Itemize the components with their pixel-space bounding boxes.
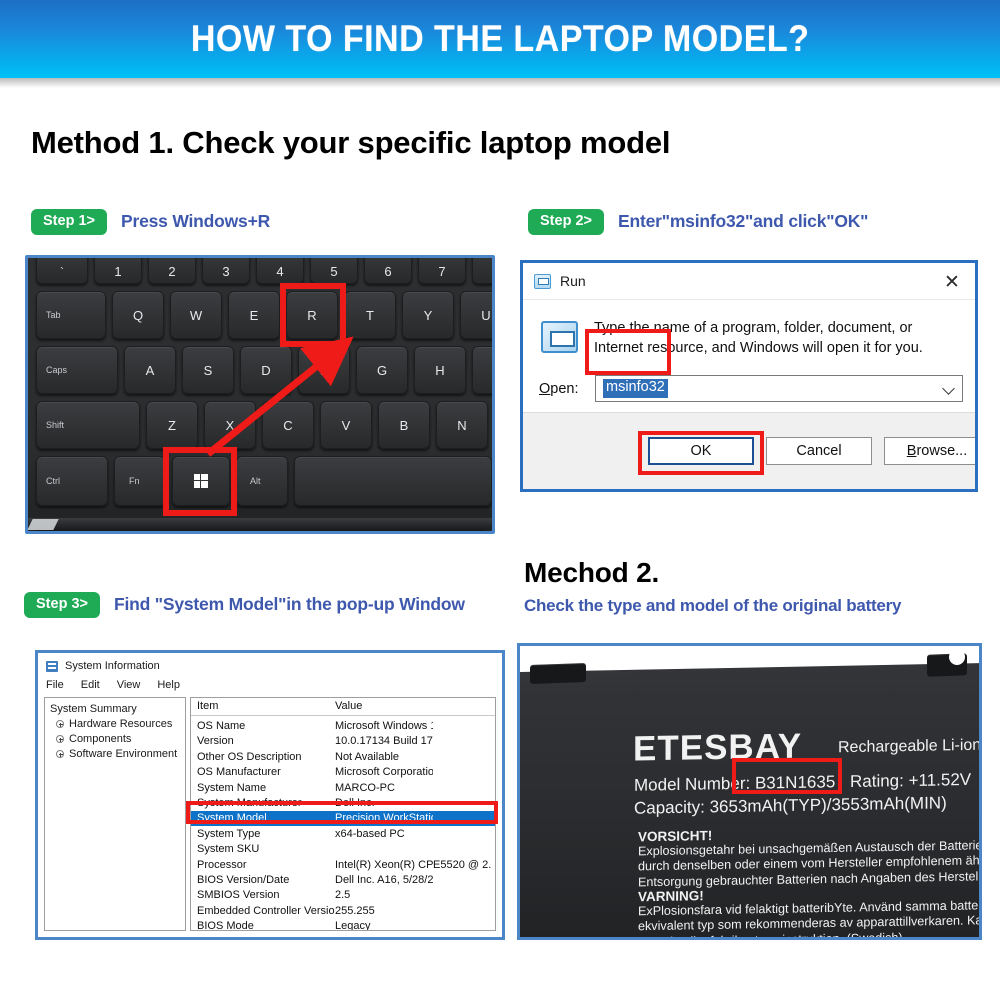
key-b: B: [378, 401, 430, 449]
row-value: x64-based PC: [335, 828, 433, 840]
key-g: G: [356, 346, 408, 394]
highlight-box-open-input: [585, 329, 671, 375]
row-item: BIOS Version/Date: [197, 874, 335, 886]
key-7: 7: [418, 255, 466, 284]
table-row[interactable]: OS ManufacturerMicrosoft Corporation: [191, 765, 495, 780]
cancel-button[interactable]: Cancel: [766, 437, 872, 465]
keyboard-illustration-panel: ` 1 2 3 4 5 6 7 Tab Q W E R T Y U Caps A…: [25, 255, 495, 534]
menu-item-edit[interactable]: Edit: [81, 679, 100, 691]
browse-button[interactable]: Browse...: [884, 437, 978, 465]
row-item: Embedded Controller Version: [197, 905, 335, 917]
key-c: C: [262, 401, 314, 449]
table-row[interactable]: BIOS Version/DateDell Inc. A16, 5/28/201…: [191, 872, 495, 887]
highlight-box-model-number: [732, 758, 842, 794]
table-row[interactable]: System NameMARCO-PC: [191, 780, 495, 795]
system-information-panel: System Information File Edit View Help S…: [35, 650, 505, 940]
row-value: Microsoft Windows 10 Pro: [335, 720, 433, 732]
sysinfo-tree-panel: System Summary Hardware Resources Compon…: [44, 697, 186, 931]
tree-item-label: Components: [69, 733, 131, 745]
key-z: Z: [146, 401, 198, 449]
battery-chemistry: Rechargeable Li-ion: [838, 737, 981, 757]
column-header-value: Value: [335, 700, 433, 712]
key-3: 3: [202, 255, 250, 284]
key-n: N: [436, 401, 488, 449]
tree-item-components[interactable]: Components: [50, 733, 185, 745]
system-information-window: System Information File Edit View Help S…: [38, 653, 502, 937]
row-item: OS Name: [197, 720, 335, 732]
step-3-row: Step 3> Find "System Model"in the pop-up…: [24, 592, 465, 618]
table-row[interactable]: System Typex64-based PC: [191, 826, 495, 841]
key-1: 1: [94, 255, 142, 284]
header-divider: [191, 715, 495, 716]
run-dialog-panel: Run ✕ Type the name of a program, folder…: [520, 260, 978, 492]
row-item: BIOS Mode: [197, 920, 335, 931]
key-a: A: [124, 346, 176, 394]
row-value: 10.0.17134 Build 17134: [335, 735, 433, 747]
table-row[interactable]: BIOS ModeLegacy: [191, 918, 495, 931]
step-3-badge: Step 3>: [24, 592, 100, 618]
expand-icon[interactable]: [56, 735, 64, 743]
run-app-icon: [541, 321, 578, 353]
battery-connector-tab-left: [530, 663, 586, 684]
step-1-badge: Step 1>: [31, 209, 107, 235]
table-row[interactable]: ProcessorIntel(R) Xeon(R) CPUE5520 @ 2.: [191, 857, 495, 872]
row-value: Microsoft Corporation: [335, 766, 433, 778]
key-caps: Caps: [36, 346, 118, 394]
row-item: System Type: [197, 828, 335, 840]
tree-root-system-summary[interactable]: System Summary: [50, 703, 185, 715]
battery-screw-hole: [949, 649, 965, 665]
step-3-text: Find "System Model"in the pop-up Window: [114, 594, 465, 615]
key-4: 4: [256, 255, 304, 284]
page-header-banner: HOW TO FIND THE LAPTOP MODEL?: [0, 0, 1000, 78]
battery-warning-german: VORSICHT! Explosionsgetahr bei unsachgem…: [638, 823, 982, 891]
run-window-icon: [534, 274, 551, 289]
key-q: Q: [112, 291, 164, 339]
step-1-row: Step 1> Press Windows+R: [31, 209, 270, 235]
key-backtick: `: [36, 255, 88, 284]
run-titlebar: Run: [523, 263, 975, 300]
row-value: MARCO-PC: [335, 782, 433, 794]
key-5: 5: [310, 255, 358, 284]
method-1-heading: Method 1. Check your specific laptop mod…: [31, 125, 670, 161]
key-f: F: [298, 346, 350, 394]
menu-item-view[interactable]: View: [117, 679, 141, 691]
highlight-box-key-windows: [163, 447, 237, 516]
step-2-text: Enter"msinfo32"and click"OK": [618, 211, 868, 232]
key-space: [294, 456, 492, 506]
banner-shadow: [0, 78, 1000, 88]
key-v: V: [320, 401, 372, 449]
key-2: 2: [148, 255, 196, 284]
row-value: Intel(R) Xeon(R) CPU: [335, 859, 433, 871]
row-value: 255.255: [335, 905, 433, 917]
table-row[interactable]: SMBIOS Version2.5: [191, 888, 495, 903]
row-item: System Name: [197, 782, 335, 794]
tree-item-label: Hardware Resources: [69, 718, 172, 730]
tree-item-label: Software Environment: [69, 748, 177, 760]
key-d: D: [240, 346, 292, 394]
table-row[interactable]: Embedded Controller Version255.255: [191, 903, 495, 918]
column-header-item: Item: [197, 700, 335, 712]
row-item: Processor: [197, 859, 335, 871]
sysinfo-titlebar: System Information: [46, 660, 160, 672]
key-y: Y: [402, 291, 454, 339]
open-input[interactable]: msinfo32: [595, 375, 963, 402]
page-title: HOW TO FIND THE LAPTOP MODEL?: [191, 18, 809, 60]
row-item: SMBIOS Version: [197, 889, 335, 901]
key-ctrl: Ctrl: [36, 456, 108, 506]
row-item: Version: [197, 735, 335, 747]
key-fn: Fn: [114, 456, 166, 506]
key-6: 6: [364, 255, 412, 284]
tree-item-hardware-resources[interactable]: Hardware Resources: [50, 718, 185, 730]
row-value: Not Available: [335, 751, 433, 763]
highlight-box-ok-button: [638, 431, 764, 475]
key-w: W: [170, 291, 222, 339]
keyboard-lip: [28, 518, 492, 531]
row-value: 2.5: [335, 889, 433, 901]
key-shift: Shift: [36, 401, 140, 449]
table-row[interactable]: Other OS DescriptionNot Available: [191, 749, 495, 764]
run-dialog: Run ✕ Type the name of a program, folder…: [523, 263, 975, 489]
open-input-value: msinfo32: [603, 379, 668, 398]
menu-item-help[interactable]: Help: [157, 679, 180, 691]
key-t: T: [344, 291, 396, 339]
key-e: E: [228, 291, 280, 339]
key-alt: Alt: [236, 456, 288, 506]
key-x: X: [204, 401, 256, 449]
highlight-box-key-r: [280, 283, 346, 347]
battery-warning-swedish: VARNING! ExPlosionsfara vid felaktigt ba…: [638, 883, 982, 940]
key-tab: Tab: [36, 291, 106, 339]
run-title-text: Run: [560, 273, 586, 289]
row-extra: E5520 @ 2.: [433, 859, 495, 871]
method-2-heading: Mechod 2.: [524, 557, 659, 589]
sysinfo-menubar: File Edit View Help: [46, 679, 180, 691]
battery-photo-panel: ETESBAY Rechargeable Li-ion Model Number…: [517, 643, 982, 940]
key-j: [472, 346, 495, 394]
row-value: Legacy: [335, 920, 433, 931]
row-item: OS Manufacturer: [197, 766, 335, 778]
method-2-subtitle: Check the type and model of the original…: [524, 596, 901, 616]
row-item: Other OS Description: [197, 751, 335, 763]
key-s: S: [182, 346, 234, 394]
system-information-icon: [46, 661, 58, 672]
battery-photo: ETESBAY Rechargeable Li-ion Model Number…: [520, 646, 979, 937]
open-label: Open:: [539, 381, 579, 397]
menu-item-file[interactable]: File: [46, 679, 64, 691]
key-u: U: [460, 291, 495, 339]
table-row[interactable]: Version10.0.17134 Build 17134: [191, 734, 495, 749]
row-value: Dell Inc. A16, 5/28/2013: [335, 874, 433, 886]
close-icon[interactable]: ✕: [941, 271, 963, 293]
highlight-box-system-model: [186, 801, 498, 824]
key-8: [472, 255, 495, 284]
expand-icon[interactable]: [56, 750, 64, 758]
step-1-text: Press Windows+R: [121, 211, 270, 232]
sysinfo-title-text: System Information: [65, 660, 160, 672]
tree-item-software-environment[interactable]: Software Environment: [50, 748, 185, 760]
chevron-down-icon[interactable]: [942, 382, 955, 395]
step-2-row: Step 2> Enter"msinfo32"and click"OK": [528, 209, 868, 235]
key-h: H: [414, 346, 466, 394]
step-2-badge: Step 2>: [528, 209, 604, 235]
row-item: System SKU: [197, 843, 335, 855]
expand-icon[interactable]: [56, 720, 64, 728]
battery-rating: Rating: +11.52V: [850, 770, 971, 792]
table-row[interactable]: OS NameMicrosoft Windows 10 Pro: [191, 718, 495, 733]
table-header-row: Item Value: [191, 698, 495, 713]
table-row[interactable]: System SKU: [191, 842, 495, 857]
